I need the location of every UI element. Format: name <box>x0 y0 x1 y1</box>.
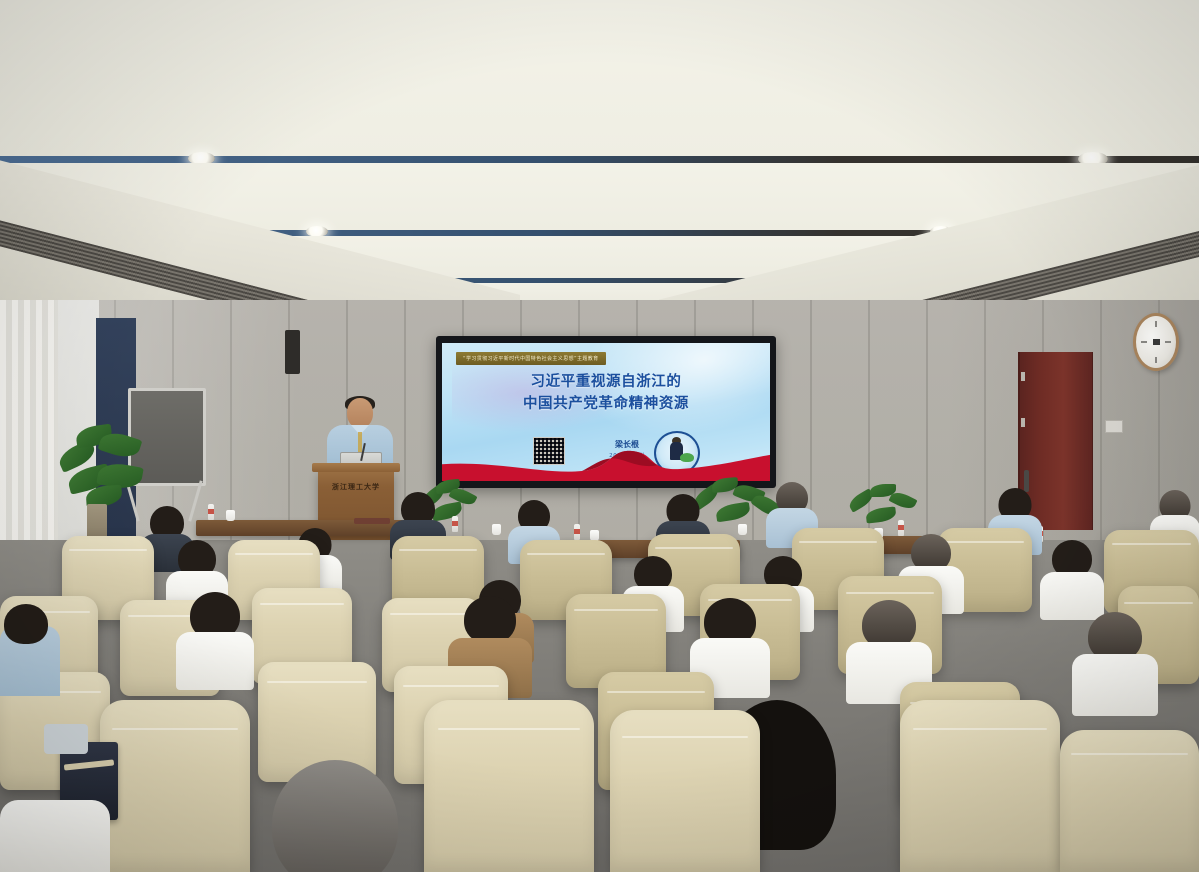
lectern-top <box>312 463 400 472</box>
chair-seam <box>846 592 933 594</box>
chair[interactable] <box>424 700 594 872</box>
chair-seam <box>235 553 312 555</box>
chair-seam <box>399 549 476 551</box>
slide-title-line-1: 习近平重视源自浙江的 <box>442 371 770 393</box>
slide-title-line-2: 中国共产党革命精神资源 <box>442 393 770 415</box>
attendee <box>275 760 395 872</box>
chair[interactable] <box>900 700 1060 872</box>
desk-nameplate <box>354 518 390 524</box>
attendee-head <box>464 596 516 644</box>
wall-speaker <box>285 330 300 374</box>
attendee-shirt <box>176 632 254 690</box>
water-bottle <box>208 504 214 520</box>
slide-surface: “学习贯彻习近平新时代中国特色社会主义思想”主题教育 习近平重视源自浙江的 中国… <box>442 343 770 481</box>
chair-seam <box>622 736 748 738</box>
clock-tick <box>1155 321 1157 327</box>
ceiling-strip-1 <box>0 156 1199 163</box>
attendee-head <box>4 604 48 644</box>
clock-tick <box>1141 341 1147 343</box>
attendee <box>176 592 254 682</box>
chair[interactable] <box>610 710 760 872</box>
plant-leaf <box>865 506 896 523</box>
attendee-head <box>272 760 398 872</box>
chair-seam <box>1071 753 1188 755</box>
chair-seam <box>799 541 876 543</box>
water-bottle <box>574 524 580 540</box>
tea-cup <box>492 524 501 535</box>
presentation-display: “学习贯彻习近平新时代中国特色社会主义思想”主题教育 习近平重视源自浙江的 中国… <box>436 336 776 488</box>
door-hinge <box>1021 418 1025 427</box>
chair-seam <box>260 603 344 605</box>
clock-tick <box>1155 357 1157 363</box>
slide-banner-text: “学习贯彻习近平新时代中国特色社会主义思想”主题教育 <box>456 352 606 365</box>
chair-seam <box>403 685 499 687</box>
wall-clock <box>1133 313 1179 371</box>
clock-hub <box>1153 339 1160 345</box>
door-hinge <box>1021 372 1025 381</box>
chair-seam <box>267 681 366 683</box>
wall-light-switch[interactable] <box>1105 420 1123 433</box>
chair-seam <box>69 549 146 551</box>
chair-seam <box>655 547 732 549</box>
lectern-institution-label: 浙江理工大学 <box>318 482 394 492</box>
attendee-hand <box>44 724 88 754</box>
clock-tick <box>1165 341 1171 343</box>
chair-seam <box>574 609 658 611</box>
attendee <box>1072 612 1158 708</box>
ceiling-panel-1 <box>0 0 1199 156</box>
chair-seam <box>1112 543 1192 545</box>
ceiling <box>0 0 1199 330</box>
attendee-shirt <box>1072 654 1158 716</box>
attendee-shoulder <box>0 800 110 872</box>
chair[interactable] <box>100 700 250 872</box>
presenter-lanyard <box>358 432 362 452</box>
chair-seam <box>112 728 238 730</box>
water-bottle <box>452 516 458 532</box>
presenter-head <box>347 398 373 428</box>
tea-cup <box>738 524 747 535</box>
chair-seam <box>1124 602 1192 604</box>
chair-seam <box>913 728 1047 730</box>
chair-seam <box>607 691 704 693</box>
slide-red-ribbon <box>442 435 770 481</box>
conference-room-photo: “学习贯彻习近平新时代中国特色社会主义思想”主题教育 习近平重视源自浙江的 中国… <box>0 0 1199 872</box>
slide-title: 习近平重视源自浙江的 中国共产党革命精神资源 <box>442 371 770 416</box>
tea-cup <box>226 510 235 521</box>
chair-seam <box>438 728 581 730</box>
attendee <box>1040 540 1104 614</box>
plant-leaf <box>715 502 751 523</box>
chair[interactable] <box>1060 730 1199 872</box>
chair-seam <box>527 553 604 555</box>
